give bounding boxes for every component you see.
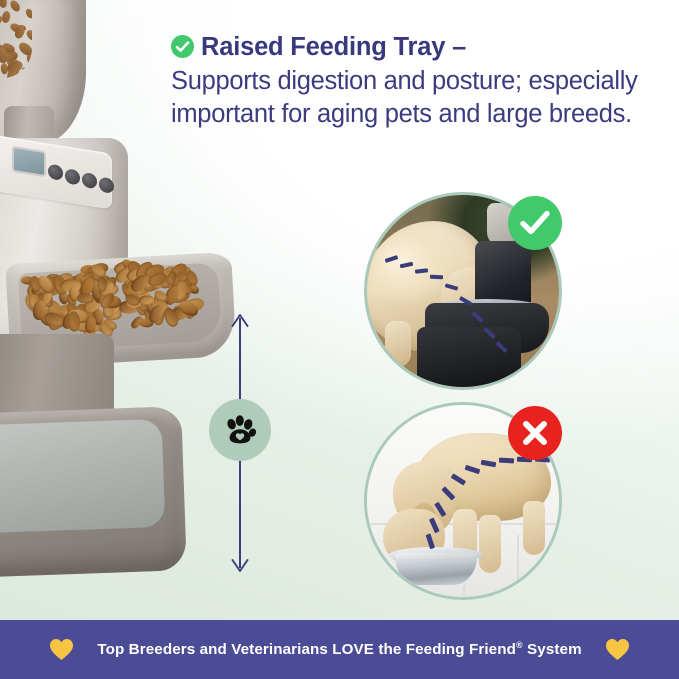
status-badge-cross xyxy=(508,406,562,460)
control-button-3[interactable] xyxy=(82,172,97,189)
trademark-symbol: ® xyxy=(516,640,523,650)
check-icon xyxy=(519,208,551,238)
golden-retriever-leg xyxy=(385,321,411,367)
bottom-banner: Top Breeders and Veterinarians LOVE the … xyxy=(0,620,679,679)
labrador-leg xyxy=(479,515,501,573)
headline-description: Supports digestion and posture; especial… xyxy=(171,65,641,130)
banner-text: Top Breeders and Veterinarians LOVE the … xyxy=(97,640,581,658)
headline-block: Raised Feeding Tray – Supports digestion… xyxy=(171,31,641,130)
heart-icon xyxy=(605,638,630,661)
control-buttons[interactable] xyxy=(48,164,114,198)
floor-bowl xyxy=(395,553,477,585)
tile-line xyxy=(517,535,519,597)
headline-dash: – xyxy=(452,33,466,61)
posture-dash xyxy=(430,275,443,280)
banner-text-after: System xyxy=(523,642,582,659)
arrow-head-up-icon xyxy=(229,314,251,328)
status-badge-check xyxy=(508,196,562,250)
headline-title-row: Raised Feeding Tray – xyxy=(171,31,641,63)
x-icon xyxy=(520,418,550,448)
arrow-head-down-icon xyxy=(229,558,251,572)
raised-bowl-base xyxy=(417,327,521,389)
heart-icon xyxy=(49,638,74,661)
control-panel[interactable] xyxy=(0,134,112,209)
posture-dash xyxy=(499,458,514,463)
page-title: Raised Feeding Tray xyxy=(201,33,445,61)
control-button-1[interactable] xyxy=(48,164,63,181)
paw-print-badge xyxy=(209,399,271,461)
check-circle-icon xyxy=(171,35,194,58)
infographic-canvas: Raised Feeding Tray – Supports digestion… xyxy=(0,0,679,679)
base-well xyxy=(0,419,165,533)
labrador-leg xyxy=(523,501,545,555)
control-button-4[interactable] xyxy=(99,176,114,193)
lcd-display xyxy=(12,146,46,177)
banner-text-before: Top Breeders and Veterinarians LOVE the … xyxy=(97,642,516,659)
control-button-2[interactable] xyxy=(65,168,80,185)
hopper-kibble xyxy=(0,0,32,78)
feeder-base-tray xyxy=(0,406,187,578)
paw-print-icon xyxy=(222,412,258,448)
